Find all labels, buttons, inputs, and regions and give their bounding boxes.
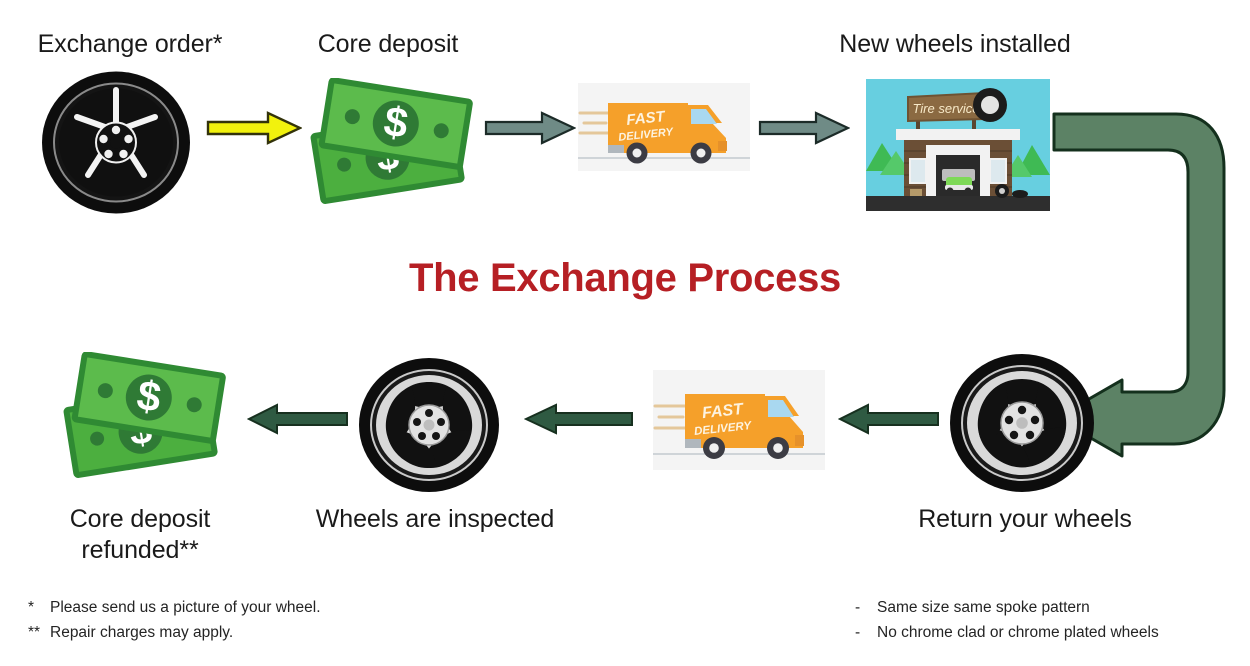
tire-service-shop-icon: Tire service — [866, 79, 1050, 211]
label-refund-line2: refunded** — [81, 536, 198, 564]
label-new-wheels-installed: New wheels installed — [805, 29, 1105, 60]
shop-sign-text: Tire service — [912, 101, 979, 116]
label-core-deposit: Core deposit — [298, 29, 478, 60]
footnote-marker: - — [855, 595, 877, 620]
label-exchange-order: Exchange order* — [20, 29, 240, 60]
silver-wheel-icon-return — [948, 352, 1096, 494]
money-icon-bottom: $ $ — [58, 352, 230, 478]
footnote-text: No chrome clad or chrome plated wheels — [877, 624, 1159, 641]
arrow-deposit-to-truck — [484, 110, 576, 146]
arrow-truck-to-shop — [758, 110, 850, 146]
footnote-marker: - — [855, 620, 877, 645]
footnote-text: Please send us a picture of your wheel. — [50, 599, 321, 616]
arrow-truck-to-inspect — [524, 403, 634, 435]
silver-wheel-icon-inspected — [357, 356, 501, 494]
footnote-text: Repair charges may apply. — [50, 624, 233, 641]
arrow-inspect-to-refund — [247, 403, 349, 435]
footnote-right-2: -No chrome clad or chrome plated wheels — [855, 620, 1159, 645]
footnote-left-2: **Repair charges may apply. — [28, 620, 233, 645]
footnote-marker: ** — [28, 620, 50, 645]
arrow-return-to-truck — [838, 403, 940, 435]
money-icon-top: $ $ — [305, 78, 477, 204]
label-refund-line1: Core deposit — [70, 505, 211, 533]
black-wheel-icon — [40, 70, 192, 215]
page-title: The Exchange Process — [0, 256, 1250, 301]
footnote-left-1: *Please send us a picture of your wheel. — [28, 595, 321, 620]
label-wheels-are-inspected: Wheels are inspected — [300, 504, 570, 535]
label-core-deposit-refunded: Core deposit refunded** — [20, 504, 260, 566]
delivery-truck-icon-top: FAST DELIVERY — [578, 83, 750, 171]
exchange-process-diagram: Exchange order* Core deposit New wheels … — [0, 0, 1250, 666]
label-return-your-wheels: Return your wheels — [900, 504, 1150, 535]
delivery-truck-icon-bottom: FAST DELIVERY — [653, 370, 825, 470]
footnote-marker: * — [28, 595, 50, 620]
arrow-order-to-deposit — [206, 110, 302, 146]
footnote-right-1: -Same size same spoke pattern — [855, 595, 1090, 620]
footnote-text: Same size same spoke pattern — [877, 599, 1090, 616]
